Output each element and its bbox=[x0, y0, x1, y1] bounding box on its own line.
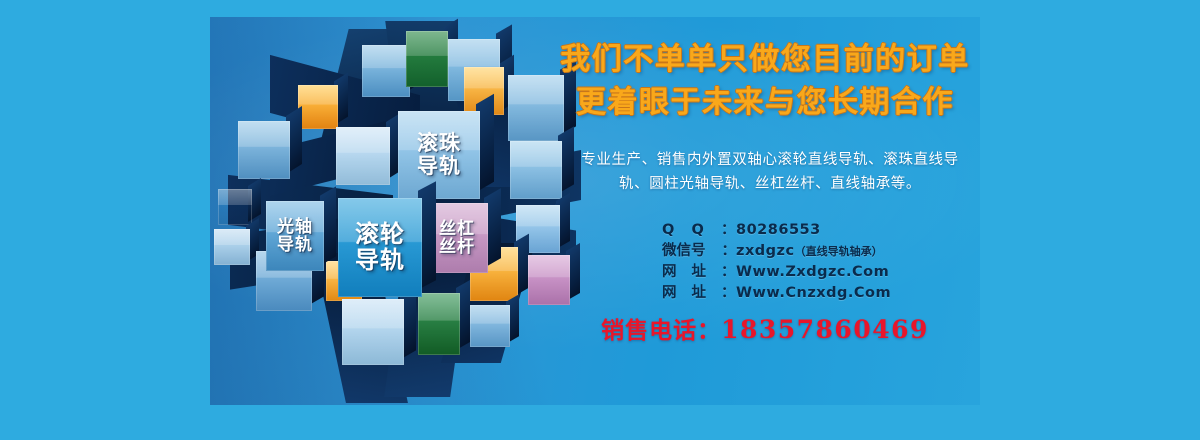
promo-banner: 光轴 导轨 滚珠 导轨 丝杠 丝杆 bbox=[210, 17, 980, 405]
decor-cube bbox=[298, 85, 338, 129]
contact-label-part-a: 网 bbox=[662, 262, 677, 283]
decor-cube bbox=[418, 293, 460, 355]
contact-value-wechat[interactable]: zxdgzc bbox=[736, 241, 795, 262]
contact-label: 网 址 ： bbox=[662, 283, 736, 304]
contact-row-qq: Q Q ： 80286553 bbox=[662, 220, 980, 241]
contact-label-part-a: 网 bbox=[662, 283, 677, 304]
decor-cube bbox=[218, 189, 252, 225]
exploding-cubes-graphic: 光轴 导轨 滚珠 导轨 丝杠 丝杆 bbox=[210, 17, 580, 405]
contact-block: Q Q ： 80286553 微信号 ： zxdgzc （直线导轨轴承） bbox=[662, 220, 980, 305]
cube-label-roller-rail: 滚轮 导轨 bbox=[338, 198, 422, 297]
contact-label-separator: ： bbox=[721, 262, 736, 283]
contact-label: 网 址 ： bbox=[662, 262, 736, 283]
contact-row-wechat: 微信号 ： zxdgzc （直线导轨轴承） bbox=[662, 241, 980, 262]
contact-row-website-1: 网 址 ： Www.Zxdgzc.Com bbox=[662, 262, 980, 283]
headline-line-1: 我们不单单只做您目前的订单 bbox=[550, 39, 980, 82]
banner-copy: 我们不单单只做您目前的订单 更着眼于未来与您长期合作 专业生产、销售内外置双轴心… bbox=[550, 17, 980, 405]
sales-phone: 销售电话：18357860469 bbox=[550, 311, 980, 345]
decor-cube bbox=[238, 121, 290, 179]
cube-label-line1: 滚轮 bbox=[355, 222, 405, 248]
decor-cube bbox=[362, 45, 410, 97]
cube-label-line2: 丝杆 bbox=[439, 238, 475, 256]
cube-label-line2: 导轨 bbox=[277, 236, 313, 254]
decor-cube bbox=[470, 305, 510, 347]
contact-label-separator: ： bbox=[721, 220, 736, 241]
headline: 我们不单单只做您目前的订单 更着眼于未来与您长期合作 bbox=[550, 39, 980, 124]
contact-label-part-b: 址 bbox=[692, 283, 707, 304]
banner-canvas: 光轴 导轨 滚珠 导轨 丝杠 丝杆 bbox=[0, 0, 1200, 440]
contact-value-website-2[interactable]: Www.Cnzxdg.Com bbox=[736, 283, 891, 304]
contact-note-wechat: （直线导轨轴承） bbox=[795, 244, 883, 260]
sales-phone-label: 销售电话： bbox=[601, 318, 721, 344]
contact-row-website-2: 网 址 ： Www.Cnzxdg.Com bbox=[662, 283, 980, 304]
cube-label-line1: 丝杠 bbox=[439, 220, 475, 238]
contact-label-part-b: Q bbox=[692, 220, 705, 241]
contact-label-part-a: Q bbox=[662, 220, 675, 241]
contact-label-part-b: 址 bbox=[692, 262, 707, 283]
description-text: 专业生产、销售内外置双轴心滚轮直线导轨、滚珠直线导轨、圆柱光轴导轨、丝杠丝杆、直… bbox=[570, 149, 970, 196]
cube-label-line2: 导轨 bbox=[355, 248, 405, 274]
cube-label-line1: 滚珠 bbox=[417, 132, 461, 155]
decor-cube bbox=[406, 31, 448, 87]
contact-label: Q Q ： bbox=[662, 220, 736, 241]
contact-label-separator: ： bbox=[722, 241, 737, 262]
headline-line-2: 更着眼于未来与您长期合作 bbox=[550, 82, 980, 125]
cube-roller-rail[interactable]: 滚轮 导轨 bbox=[338, 198, 422, 297]
contact-label-part-a: 微信号 bbox=[662, 241, 706, 262]
cube-ball-rail[interactable]: 滚珠 导轨 bbox=[398, 111, 480, 199]
contact-value-website-1[interactable]: Www.Zxdgzc.Com bbox=[736, 262, 889, 283]
contact-label: 微信号 ： bbox=[662, 241, 736, 262]
cube-label-line1: 光轴 bbox=[277, 218, 313, 236]
decor-cube bbox=[336, 127, 390, 185]
contact-label-separator: ： bbox=[721, 283, 736, 304]
contact-value-qq[interactable]: 80286553 bbox=[736, 220, 821, 241]
cube-label-line2: 导轨 bbox=[417, 155, 461, 178]
sales-phone-number[interactable]: 18357860469 bbox=[721, 315, 929, 344]
cube-label-optical-axis-rail: 光轴 导轨 bbox=[266, 201, 324, 271]
decor-cube bbox=[342, 299, 404, 365]
decor-cube bbox=[214, 229, 250, 265]
cube-label-ball-rail: 滚珠 导轨 bbox=[398, 111, 480, 199]
cube-guangzhou-guangzhou[interactable]: 光轴 导轨 bbox=[266, 201, 324, 271]
